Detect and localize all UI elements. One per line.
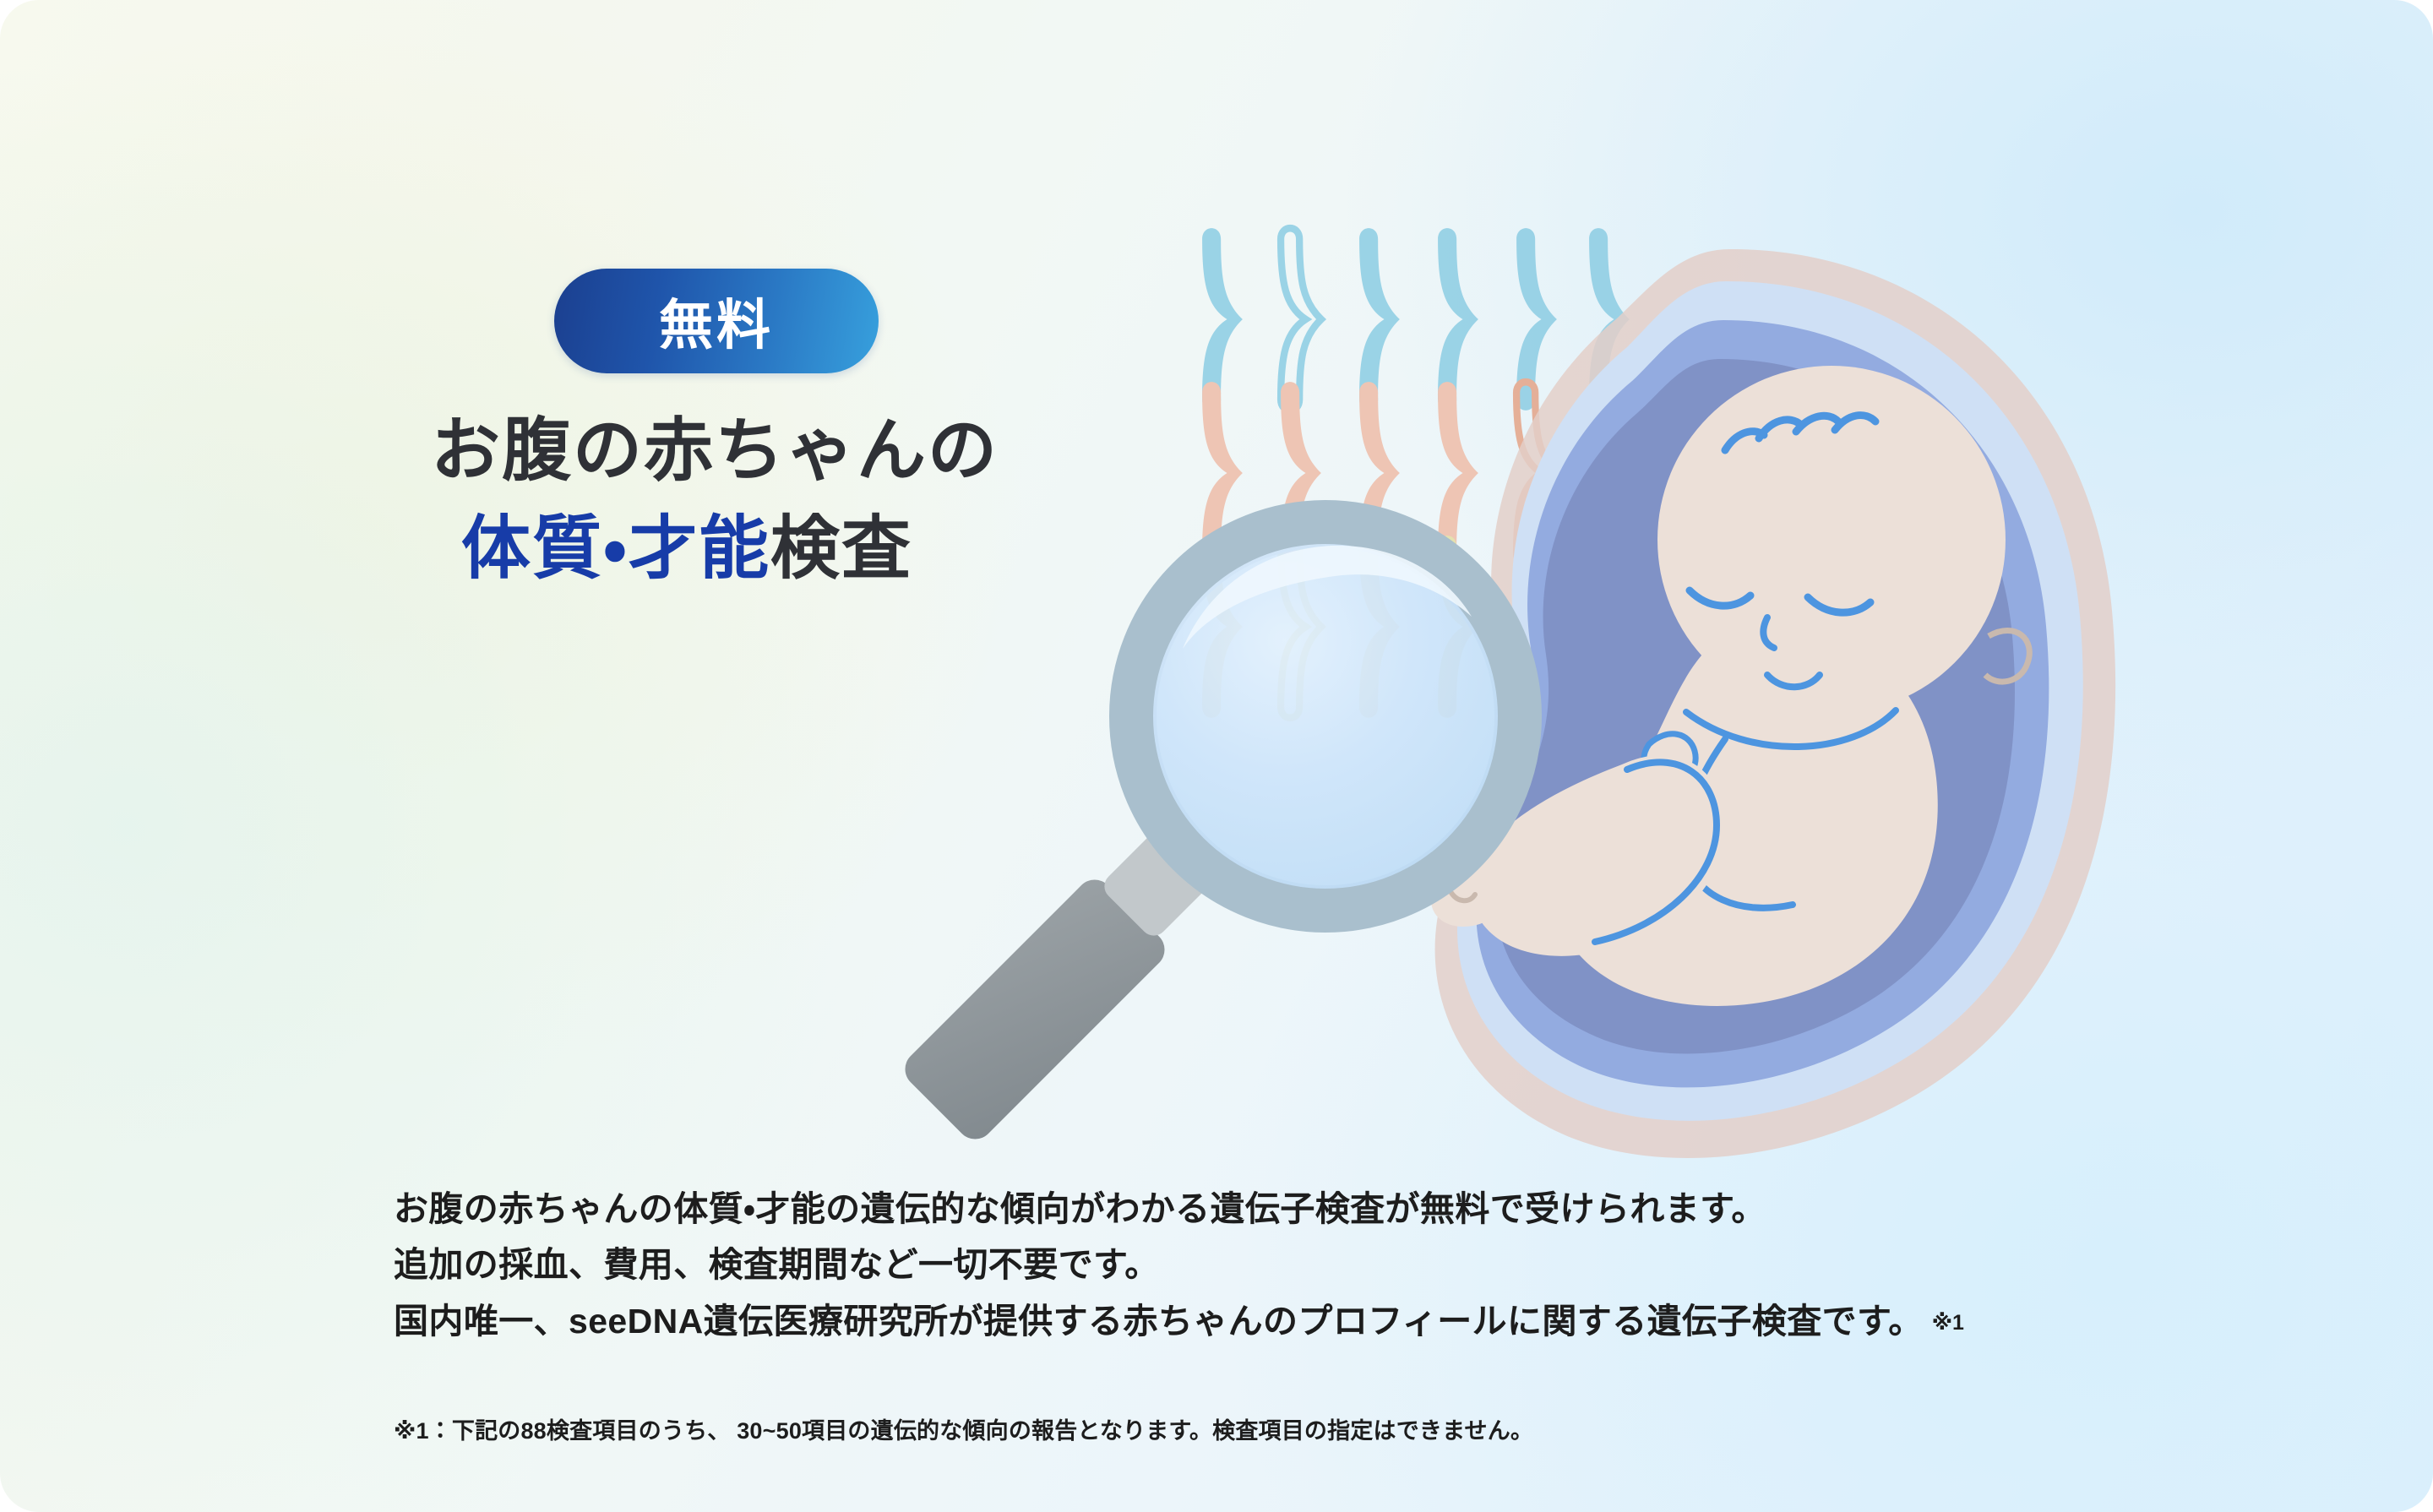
baby-hand	[1644, 734, 1695, 782]
baby-ear	[1985, 630, 2029, 682]
baby-leg	[1472, 755, 1725, 956]
magnifier-handle	[897, 872, 1172, 1146]
baby-chin-line	[1686, 710, 1896, 747]
headline-line-1: お腹の赤ちゃんの	[397, 402, 1259, 500]
baby-toes	[1451, 893, 1475, 900]
chromosome-row-salmon	[1202, 382, 1697, 564]
baby-arm	[1685, 739, 1793, 908]
free-badge: 無料	[554, 269, 879, 373]
page-title: お腹の赤ちゃんの 体質・才能検査	[397, 402, 1259, 599]
headline-line-2: 体質・才能検査	[397, 500, 1259, 598]
womb-inner-blue	[1495, 359, 2015, 1053]
baby	[1431, 366, 2029, 1006]
hero-banner: 無料 お腹の赤ちゃんの 体質・才能検査 お腹の赤ちゃんの体質・才能の遺伝的な傾向…	[0, 0, 2433, 1512]
chromosome-row-blue	[1202, 228, 1630, 411]
baby-nose	[1763, 617, 1774, 648]
footnote-text: ※1：下記の88検査項目のうち、 30~50項目の遺伝的な傾向の報告となります。…	[394, 1412, 1533, 1445]
headline-accent: 体質・才能	[461, 510, 770, 587]
magnifier-ferrule	[1099, 816, 1224, 941]
baby-torso	[1553, 623, 1938, 1006]
fetus-in-womb	[1431, 249, 2115, 1158]
headline-line-2-rest: 検査	[770, 510, 912, 587]
chromosome-grid	[1202, 228, 1697, 718]
body-line-1: お腹の赤ちゃんの体質・才能の遺伝的な傾向がわかる遺伝子検査が無料で受けられます。	[394, 1181, 2210, 1237]
chromosome-row-khaki	[1202, 536, 1697, 718]
chromosome-outline	[1281, 536, 1321, 718]
chromosome-outline	[1281, 228, 1321, 411]
chromosome-outline	[1516, 382, 1557, 564]
body-line-2: 追加の採血、費用、検査期間など一切不要です。	[394, 1237, 2210, 1292]
womb-light-blue	[1457, 281, 2083, 1121]
body-line-3-text: 国内唯一、seeDNA遺伝医療研究所が提供する赤ちゃんのプロフィールに関する遺伝…	[394, 1302, 1924, 1341]
body-copy: お腹の赤ちゃんの体質・才能の遺伝的な傾向がわかる遺伝子検査が無料で受けられます。…	[394, 1181, 2210, 1349]
baby-head	[1657, 366, 2006, 714]
baby-mouth	[1767, 675, 1820, 687]
hero-text-column: 無料 お腹の赤ちゃんの 体質・才能検査	[397, 269, 1259, 645]
baby-eyes	[1690, 590, 1870, 612]
womb-mid-blue	[1476, 320, 2049, 1087]
baby-hair	[1725, 416, 1875, 450]
baby-leg-line	[1595, 762, 1717, 942]
baby-foot	[1431, 854, 1509, 927]
womb-outer-halo	[1435, 249, 2116, 1158]
footnote-marker: ※1	[1932, 1311, 1964, 1335]
body-line-3: 国内唯一、seeDNA遺伝医療研究所が提供する赤ちゃんのプロフィールに関する遺伝…	[394, 1293, 2210, 1349]
